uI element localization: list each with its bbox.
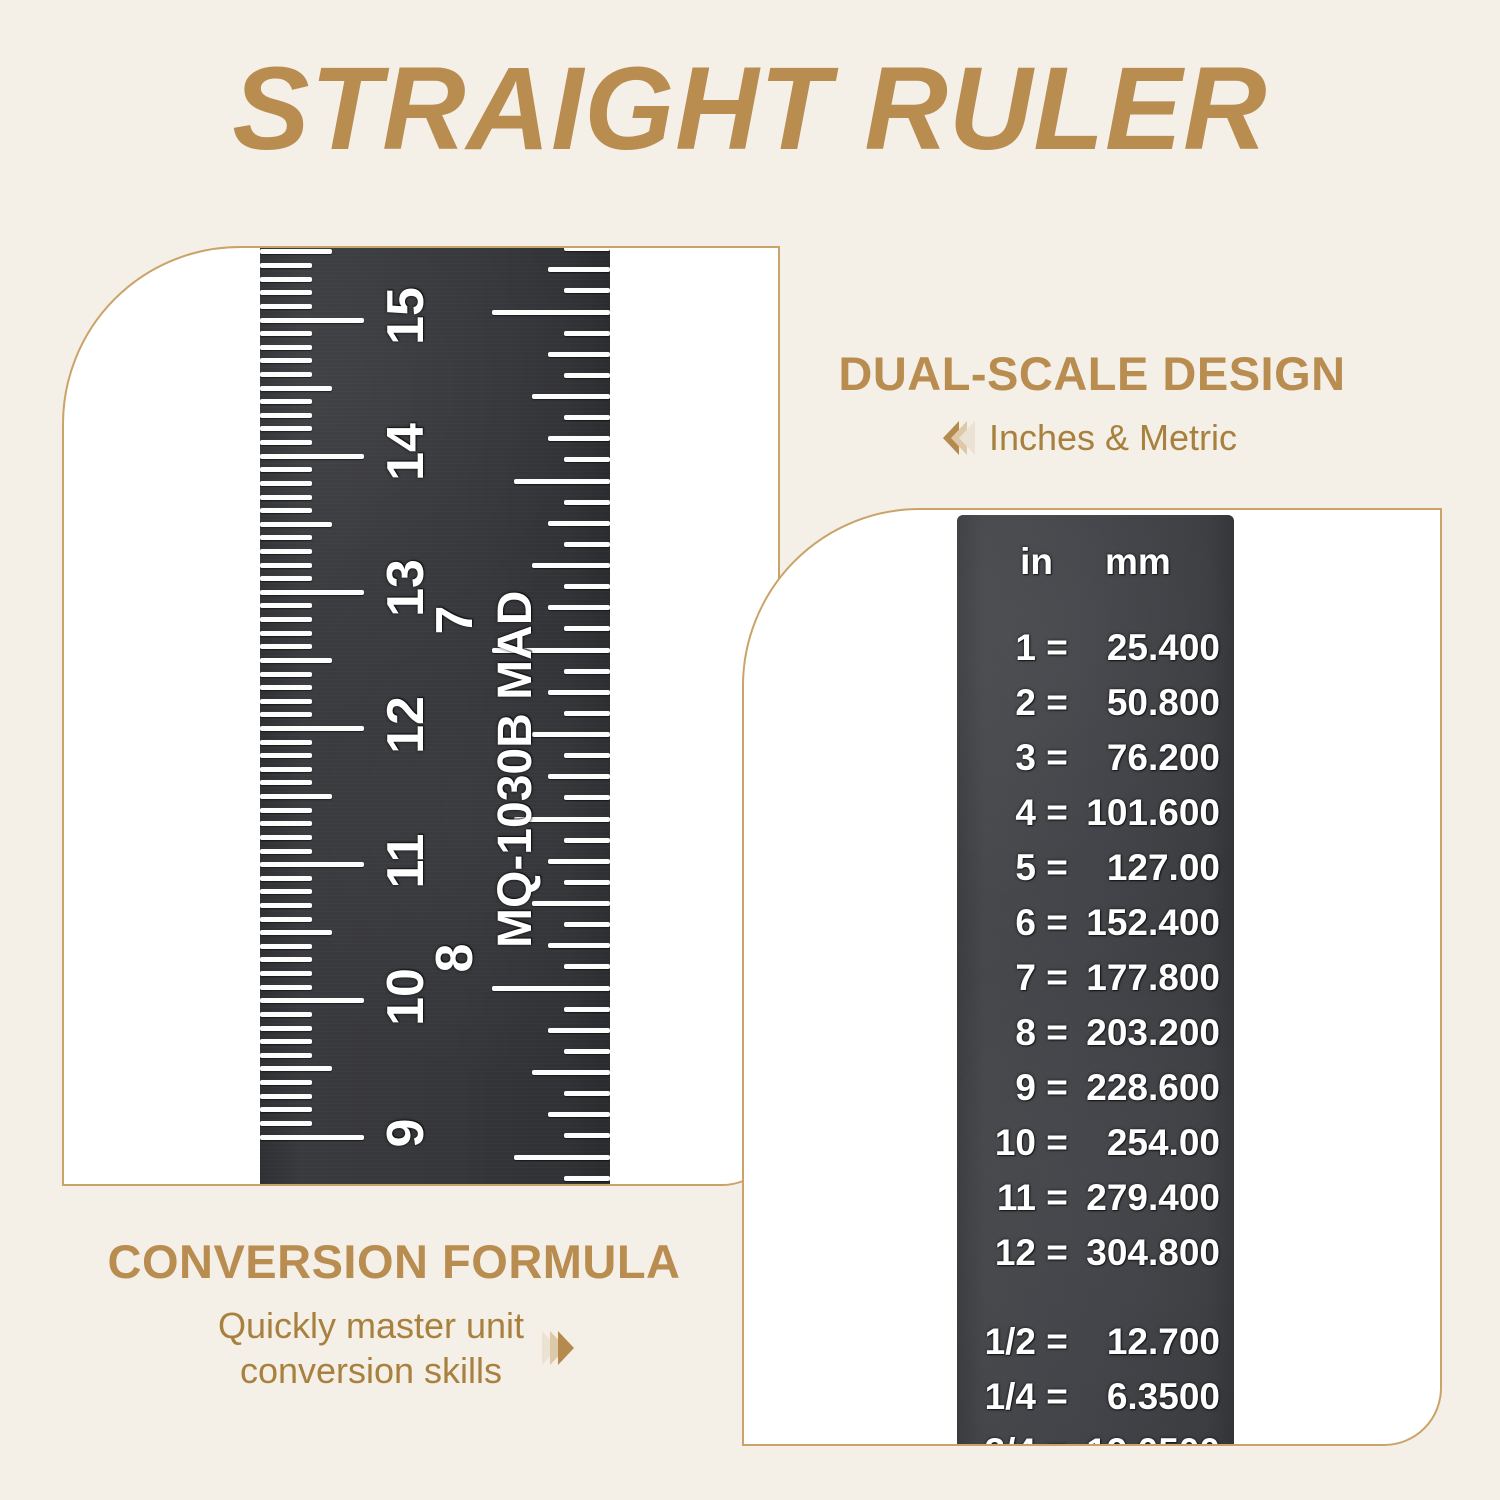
conversion-equals-sign: =: [1036, 847, 1078, 889]
ruler-tick-mm: [260, 631, 312, 636]
ruler-tick-mm: [260, 957, 312, 962]
conversion-table: in mm 1=25.4002=50.8003=76.2004=101.6005…: [957, 515, 1234, 1446]
ruler-tick-mm: [260, 1026, 312, 1031]
conversion-mm-value: 6.3500: [1078, 1376, 1220, 1418]
conversion-row: 9=228.600: [957, 1067, 1234, 1109]
ruler-tick-mm: [260, 971, 312, 976]
ruler-tick-inch-minor: [532, 563, 610, 568]
ruler-tick-mm: [260, 399, 312, 404]
conversion-row: 1/4=6.3500: [957, 1376, 1234, 1418]
ruler-tick-mm: [260, 426, 312, 431]
conversion-equals-sign: =: [1036, 1431, 1078, 1446]
ruler-tick-inch-minor: [564, 373, 610, 378]
ruler-tick-cm-major: [260, 318, 364, 323]
ruler-tick-mm: [260, 277, 312, 282]
conversion-formula-subtitle-line1: Quickly master unit: [218, 1303, 524, 1348]
ruler-body: 910111213141578MQ-1030B MAD: [260, 248, 610, 1186]
dual-scale-heading-block: DUAL-SCALE DESIGN Inches & Metric: [742, 346, 1442, 459]
ruler-label-cm: 11: [376, 827, 436, 895]
ruler-tick-mm: [260, 917, 312, 922]
ruler-tick-inch-minor: [564, 880, 610, 885]
ruler-tick-mm: [260, 576, 312, 581]
ruler-tick-mm: [260, 1107, 312, 1112]
chevron-right-dark-icon: [558, 1331, 574, 1365]
ruler-tick-inch-minor: [548, 1028, 610, 1033]
conversion-mm-value: 50.800: [1078, 682, 1220, 724]
ruler-tick-inch-minor: [564, 838, 610, 843]
ruler-tick-mm: [260, 290, 312, 295]
conversion-equals-sign: =: [1036, 1376, 1078, 1418]
ruler-tick-mm: [260, 821, 312, 826]
conversion-table-divider: [957, 1287, 1234, 1321]
ruler-tick-mm: [260, 930, 332, 935]
conversion-equals-sign: =: [1036, 1177, 1078, 1219]
conversion-mm-value: 228.600: [1078, 1067, 1220, 1109]
conversion-mm-value: 25.400: [1078, 627, 1220, 669]
conversion-row: 6=152.400: [957, 902, 1234, 944]
conversion-formula-heading-block: CONVERSION FORMULA Quickly master unit c…: [34, 1234, 754, 1393]
ruler-tick-inch-minor: [564, 922, 610, 927]
ruler-tick-inch-minor: [548, 436, 610, 441]
conversion-mm-value: 12.700: [1078, 1321, 1220, 1363]
ruler-tick-mm: [260, 563, 312, 568]
dual-scale-subtitle-row: Inches & Metric: [742, 417, 1442, 459]
ruler-tick-mm: [260, 1080, 312, 1085]
ruler-tick-cm-major: [260, 1135, 364, 1140]
conversion-equals-sign: =: [1036, 682, 1078, 724]
ruler-tick-mm: [260, 263, 312, 268]
ruler-tick-inch-minor: [548, 943, 610, 948]
chevron-right-group: [546, 1331, 570, 1365]
ruler-tick-inch-minor: [548, 352, 610, 357]
conversion-inches-value: 3/4: [964, 1431, 1036, 1446]
ruler-tick-mm: [260, 644, 312, 649]
conversion-row: 3=76.200: [957, 737, 1234, 779]
conversion-mm-value: 304.800: [1078, 1232, 1220, 1274]
ruler-tick-cm-major: [260, 862, 364, 867]
ruler-tick-mm: [260, 780, 312, 785]
ruler-tick-mm: [260, 372, 312, 377]
ruler-tick-inch-minor: [564, 1007, 610, 1012]
ruler-tick-inch-minor: [564, 753, 610, 758]
ruler-tick-mm: [260, 481, 312, 486]
ruler-tick-mm: [260, 1039, 312, 1044]
conversion-inches-value: 1/2: [964, 1321, 1036, 1363]
conversion-row: 4=101.600: [957, 792, 1234, 834]
conversion-inches-value: 1/4: [964, 1376, 1036, 1418]
chevron-left-light-icon: [959, 421, 975, 455]
ruler-image: 910111213141578MQ-1030B MAD: [260, 248, 610, 1186]
conversion-row: 11=279.400: [957, 1177, 1234, 1219]
ruler-tick-mm: [260, 549, 312, 554]
ruler-tick-cm-major: [260, 454, 364, 459]
conversion-row: 12=304.800: [957, 1232, 1234, 1274]
ruler-tick-inch-minor: [532, 901, 610, 906]
conversion-formula-title: CONVERSION FORMULA: [34, 1234, 754, 1289]
conversion-mm-value: 19.0500: [1078, 1431, 1220, 1446]
ruler-tick-inch-minor: [564, 415, 610, 420]
ruler-label-cm: 12: [376, 691, 436, 759]
ruler-tick-inch-minor: [564, 711, 610, 716]
ruler-tick-inch-minor: [564, 795, 610, 800]
ruler-tick-mm: [260, 849, 312, 854]
conversion-formula-subtitle: Quickly master unit conversion skills: [218, 1303, 524, 1393]
ruler-tick-inch-minor: [564, 288, 610, 293]
ruler-tick-cm-major: [260, 998, 364, 1003]
ruler-tick-inch-minor: [564, 669, 610, 674]
conversion-equals-sign: =: [1036, 902, 1078, 944]
ruler-tick-mm: [260, 1012, 312, 1017]
ruler-tick-inch-minor: [514, 1155, 610, 1160]
ruler-tick-inch-minor: [564, 964, 610, 969]
ruler-tick-inch-minor: [548, 859, 610, 864]
conversion-row: 1=25.400: [957, 627, 1234, 669]
ruler-tick-inch-minor: [548, 267, 610, 272]
ruler-tick-inch-minor: [564, 500, 610, 505]
ruler-tick-mm: [260, 1066, 332, 1071]
ruler-tick-inch-minor: [532, 394, 610, 399]
conversion-inches-value: 5: [964, 847, 1036, 889]
ruler-tick-mm: [260, 495, 312, 500]
conversion-mm-value: 101.600: [1078, 792, 1220, 834]
conversion-inches-value: 2: [964, 682, 1036, 724]
ruler-tick-mm: [260, 603, 312, 608]
ruler-tick-mm: [260, 535, 312, 540]
ruler-tick-mm: [260, 1053, 312, 1058]
conversion-row: 10=254.00: [957, 1122, 1234, 1164]
ruler-tick-inch-minor: [532, 1070, 610, 1075]
conversion-inches-value: 4: [964, 792, 1036, 834]
ruler-card: 910111213141578MQ-1030B MAD: [62, 246, 780, 1186]
ruler-tick-inch-minor: [564, 248, 610, 251]
ruler-tick-mm: [260, 685, 312, 690]
ruler-tick-mm: [260, 304, 312, 309]
ruler-tick-mm: [260, 835, 312, 840]
ruler-tick-inch-minor: [548, 774, 610, 779]
conversion-inches-value: 1: [964, 627, 1036, 669]
ruler-tick-mm: [260, 345, 312, 350]
conversion-mm-value: 279.400: [1078, 1177, 1220, 1219]
page-title: STRAIGHT RULER: [15, 48, 1485, 172]
conversion-table-card: in mm 1=25.4002=50.8003=76.2004=101.6005…: [742, 508, 1442, 1446]
conversion-row: 1/2=12.700: [957, 1321, 1234, 1363]
ruler-label-inch: 8: [425, 927, 485, 989]
ruler-tick-inch-minor: [564, 626, 610, 631]
ruler-tick-mm: [260, 522, 332, 527]
ruler-label-cm: 9: [376, 1099, 436, 1167]
ruler-tick-mm: [260, 413, 312, 418]
conversion-equals-sign: =: [1036, 737, 1078, 779]
conversion-formula-subtitle-row: Quickly master unit conversion skills: [34, 1303, 754, 1393]
ruler-tick-mm: [260, 672, 312, 677]
conversion-row: 3/4=19.0500: [957, 1431, 1234, 1446]
ruler-tick-inch-minor: [564, 1176, 610, 1181]
conversion-table-plate: in mm 1=25.4002=50.8003=76.2004=101.6005…: [957, 515, 1234, 1446]
conversion-row: 5=127.00: [957, 847, 1234, 889]
ruler-tick-mm: [260, 903, 312, 908]
ruler-tick-mm: [260, 876, 312, 881]
ruler-tick-mm: [260, 1121, 312, 1126]
ruler-tick-inch-minor: [564, 584, 610, 589]
ruler-tick-inch-minor: [548, 690, 610, 695]
ruler-tick-inch-minor: [514, 479, 610, 484]
conversion-equals-sign: =: [1036, 1122, 1078, 1164]
ruler-tick-mm: [260, 808, 312, 813]
conversion-inches-value: 8: [964, 1012, 1036, 1054]
ruler-tick-inch-minor: [564, 1049, 610, 1054]
ruler-tick-mm: [260, 440, 312, 445]
ruler-tick-mm: [260, 617, 312, 622]
conversion-inches-value: 12: [964, 1232, 1036, 1274]
ruler-tick-inch-minor: [548, 521, 610, 526]
ruler-tick-inch-minor: [564, 1091, 610, 1096]
conversion-equals-sign: =: [1036, 792, 1078, 834]
ruler-tick-mm: [260, 889, 312, 894]
ruler-tick-mm: [260, 249, 332, 254]
ruler-tick-inch-minor: [564, 331, 610, 336]
conversion-equals-sign: =: [1036, 1321, 1078, 1363]
chevron-left-group: [947, 421, 971, 455]
ruler-label-inch: 7: [425, 589, 485, 651]
column-header-in: in: [1020, 541, 1053, 583]
conversion-inches-value: 9: [964, 1067, 1036, 1109]
ruler-tick-mm: [260, 985, 312, 990]
ruler-tick-inch-minor: [548, 1112, 610, 1117]
ruler-tick-mm: [260, 386, 332, 391]
ruler-model-text: MQ-1030B MAD: [488, 591, 543, 948]
ruler-tick-mm: [260, 331, 312, 336]
conversion-row: 7=177.800: [957, 957, 1234, 999]
column-header-mm: mm: [1105, 541, 1171, 583]
ruler-tick-mm: [260, 767, 312, 772]
ruler-tick-inch-minor: [564, 542, 610, 547]
ruler-tick-mm: [260, 508, 312, 513]
ruler-tick-inch-minor: [564, 1133, 610, 1138]
ruler-tick-mm: [260, 740, 312, 745]
conversion-equals-sign: =: [1036, 1067, 1078, 1109]
ruler-tick-mm: [260, 699, 312, 704]
conversion-row: 8=203.200: [957, 1012, 1234, 1054]
conversion-equals-sign: =: [1036, 1232, 1078, 1274]
ruler-tick-mm: [260, 658, 332, 663]
ruler-tick-inch-major: [492, 986, 610, 991]
conversion-mm-value: 203.200: [1078, 1012, 1220, 1054]
conversion-mm-value: 127.00: [1078, 847, 1220, 889]
conversion-table-header: in mm: [957, 541, 1234, 583]
dual-scale-title: DUAL-SCALE DESIGN: [742, 346, 1442, 401]
ruler-tick-inch-minor: [532, 732, 610, 737]
conversion-mm-value: 177.800: [1078, 957, 1220, 999]
conversion-inches-value: 3: [964, 737, 1036, 779]
ruler-tick-mm: [260, 794, 332, 799]
conversion-equals-sign: =: [1036, 957, 1078, 999]
conversion-row: 2=50.800: [957, 682, 1234, 724]
conversion-table-rows: 1=25.4002=50.8003=76.2004=101.6005=127.0…: [957, 627, 1234, 1446]
ruler-tick-mm: [260, 467, 312, 472]
conversion-equals-sign: =: [1036, 627, 1078, 669]
ruler-tick-mm: [260, 1094, 312, 1099]
ruler-label-cm: 15: [376, 282, 436, 350]
ruler-label-cm: 14: [376, 418, 436, 486]
ruler-tick-inch-major: [492, 310, 610, 315]
ruler-tick-inch-minor: [548, 605, 610, 610]
conversion-inches-value: 7: [964, 957, 1036, 999]
ruler-tick-inch-minor: [564, 457, 610, 462]
conversion-mm-value: 152.400: [1078, 902, 1220, 944]
conversion-equals-sign: =: [1036, 1012, 1078, 1054]
ruler-tick-cm-major: [260, 726, 364, 731]
ruler-tick-mm: [260, 753, 312, 758]
conversion-mm-value: 254.00: [1078, 1122, 1220, 1164]
conversion-inches-value: 11: [964, 1177, 1036, 1219]
dual-scale-subtitle: Inches & Metric: [989, 417, 1237, 459]
conversion-mm-value: 76.200: [1078, 737, 1220, 779]
ruler-tick-mm: [260, 358, 312, 363]
ruler-tick-mm: [260, 944, 312, 949]
ruler-tick-mm: [260, 712, 312, 717]
ruler-tick-cm-major: [260, 590, 364, 595]
conversion-formula-subtitle-line2: conversion skills: [218, 1348, 524, 1393]
conversion-inches-value: 10: [964, 1122, 1036, 1164]
conversion-inches-value: 6: [964, 902, 1036, 944]
